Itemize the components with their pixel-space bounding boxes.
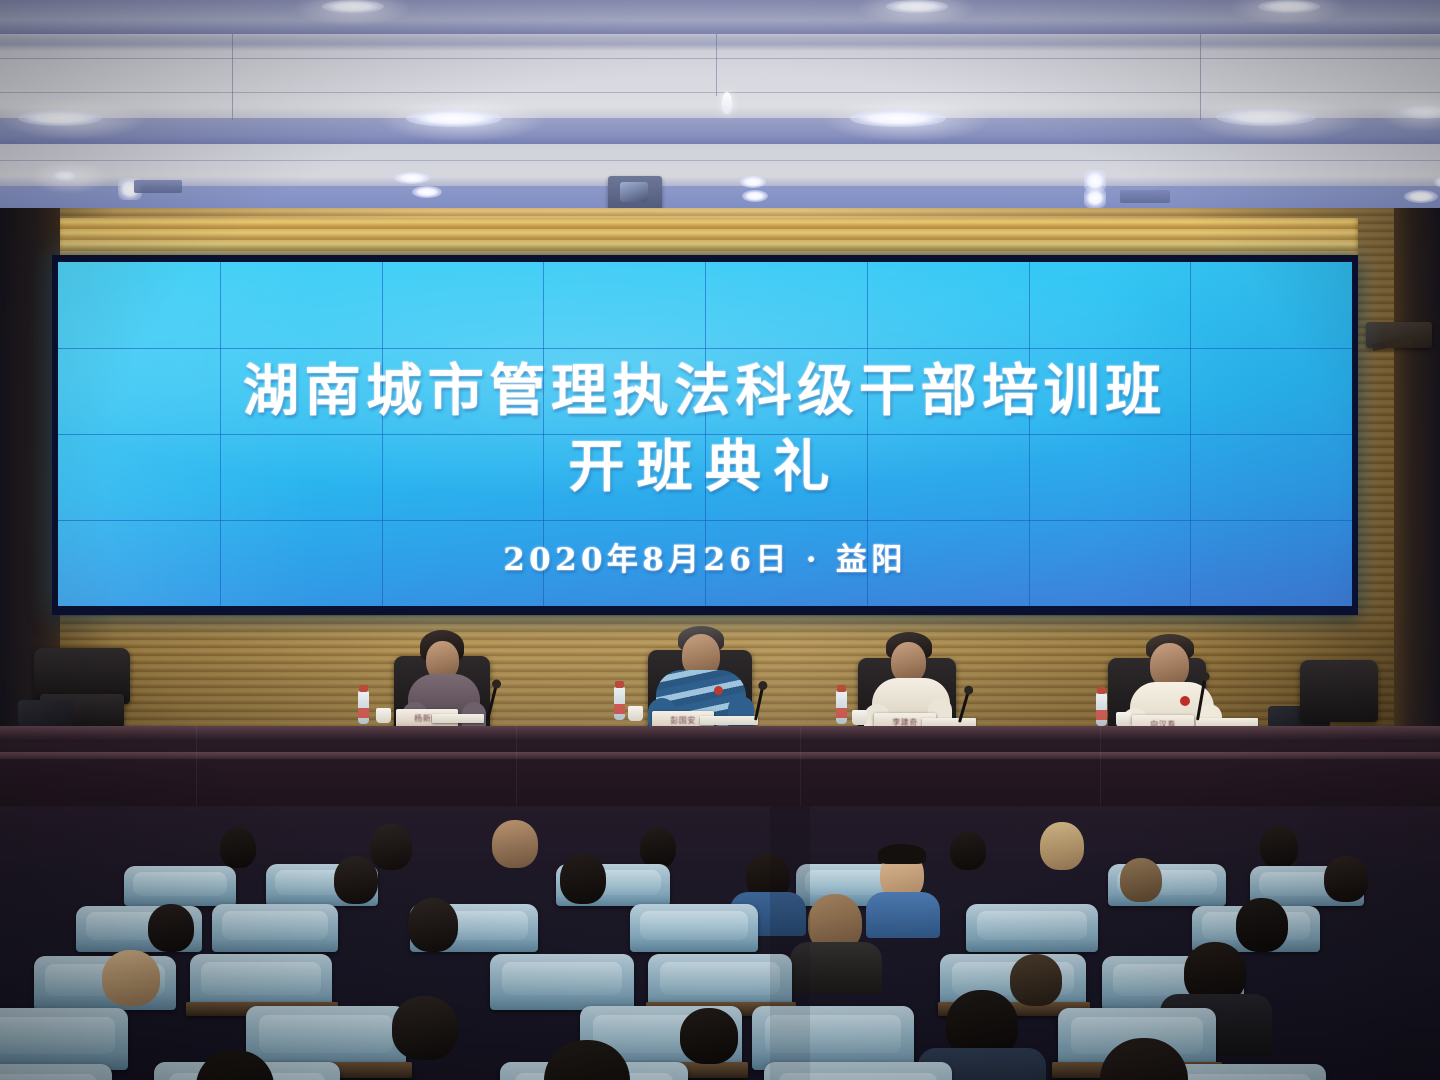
led-screen-surface[interactable]: 湖南城市管理执法科级干部培训班 开班典礼 2020年8月26日 · 益阳 (58, 262, 1352, 606)
wall-top-trim (58, 218, 1358, 256)
wall-right-dark-return (1394, 208, 1440, 768)
bag-on-table-left (18, 700, 74, 726)
audience-seating (0, 806, 1440, 1080)
led-title-line-1: 湖南城市管理执法科级干部培训班 (58, 346, 1352, 427)
led-title-line-2: 开班典礼 (58, 422, 1352, 503)
lapel-badge (1180, 696, 1190, 706)
ceiling-vent-right (1120, 190, 1170, 203)
auditorium-scene: 湖南城市管理执法科级干部培训班 开班典礼 2020年8月26日 · 益阳 杨新阳 (0, 0, 1440, 1080)
pendant-fixture (722, 92, 732, 114)
ceiling (0, 0, 1440, 232)
ceiling-vent-left (134, 180, 182, 193)
led-date-line: 2020年8月26日 · 益阳 (58, 534, 1352, 579)
chair-far-right[interactable] (1300, 660, 1378, 722)
lapel-badge (714, 686, 723, 695)
led-video-wall[interactable]: 湖南城市管理执法科级干部培训班 开班典礼 2020年8月26日 · 益阳 (52, 255, 1358, 615)
ceiling-projector (608, 176, 662, 210)
ceiling-accent-band-top (0, 0, 1440, 34)
